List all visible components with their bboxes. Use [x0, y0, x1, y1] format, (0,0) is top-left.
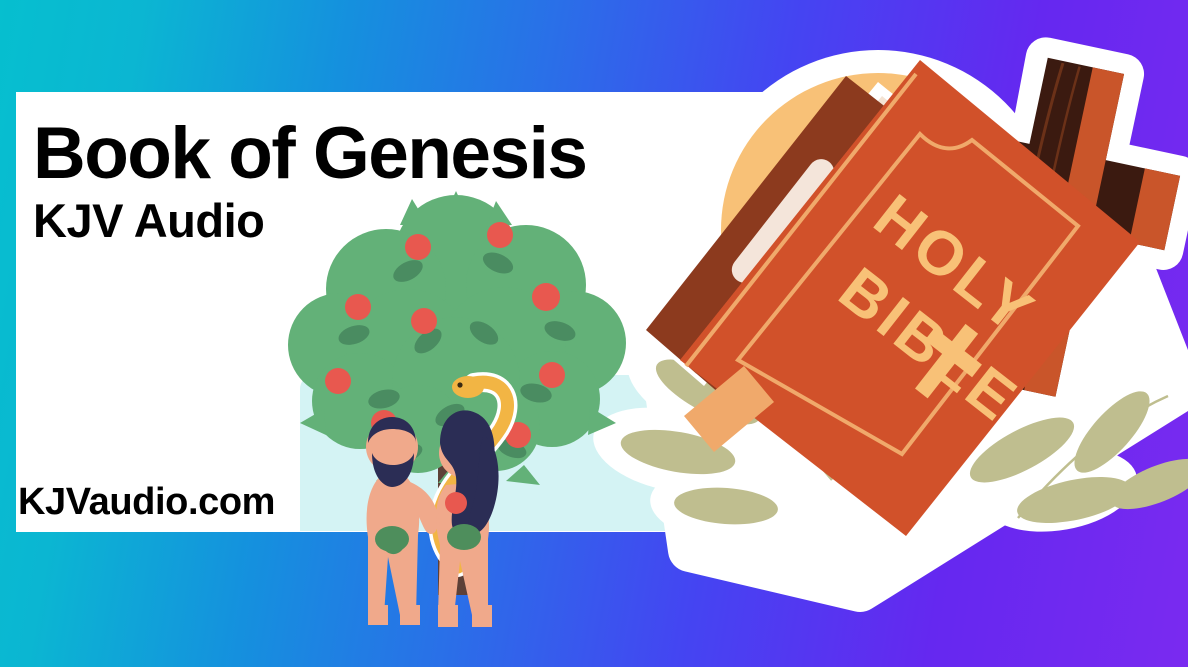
page-title: Book of Genesis: [33, 118, 587, 190]
page-subtitle: KJV Audio: [33, 196, 587, 245]
headline-block: Book of Genesis KJV Audio: [33, 118, 587, 245]
site-url-label: KJVaudio.com: [18, 481, 275, 524]
bible-sticker-artwork: HOLY BIBLE: [620, 30, 1188, 630]
thumbnail-canvas: HOLY BIBLE: [0, 0, 1188, 667]
garden-of-eden-artwork: [288, 185, 628, 640]
